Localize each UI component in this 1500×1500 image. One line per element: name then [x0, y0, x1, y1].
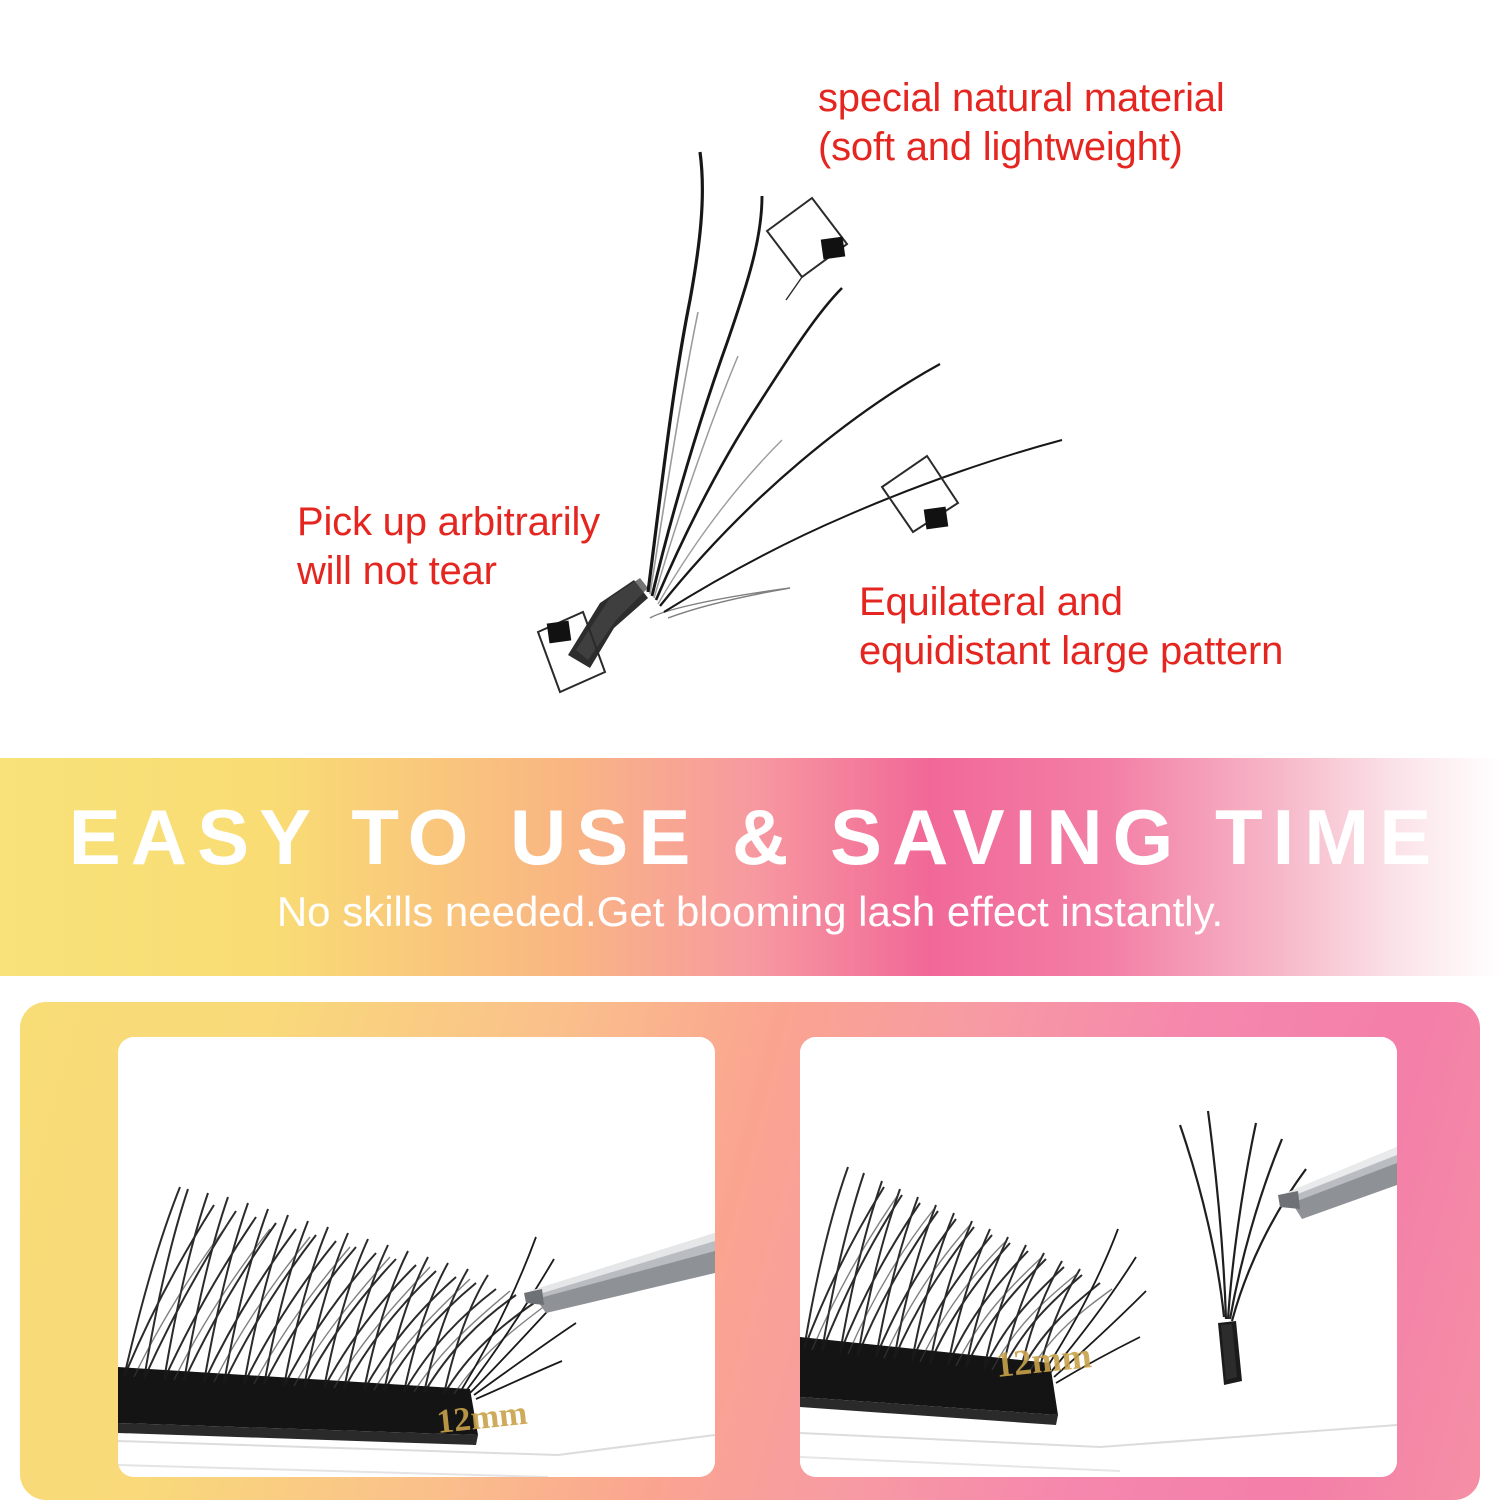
banner-subtitle: No skills needed.Get blooming lash effec… [0, 888, 1500, 936]
callout-equilateral-text: Equilateral and equidistant large patter… [859, 578, 1283, 676]
lash-tray-photo: 12mm [118, 1037, 715, 1477]
photo-card-lash-fan: 12mm [800, 1037, 1397, 1477]
callout-pickup-text: Pick up arbitrarily will not tear [297, 498, 600, 596]
lash-fibers [648, 152, 1062, 618]
callout-material-text: special natural material (soft and light… [818, 74, 1225, 172]
callout-marker-equilateral [882, 456, 958, 532]
lash-fibers-secondary [650, 312, 782, 604]
photo-card-lash-tray: 12mm [118, 1037, 715, 1477]
callout-marker-material [767, 198, 847, 300]
banner-headline: EASY TO USE & SAVING TIME [0, 792, 1500, 883]
promo-banner: EASY TO USE & SAVING TIME No skills need… [0, 758, 1500, 976]
top-diagram-section: special natural material (soft and light… [0, 0, 1500, 758]
product-photo-panel: 12mm [20, 1002, 1480, 1500]
lash-fan-photo: 12mm [800, 1037, 1397, 1477]
